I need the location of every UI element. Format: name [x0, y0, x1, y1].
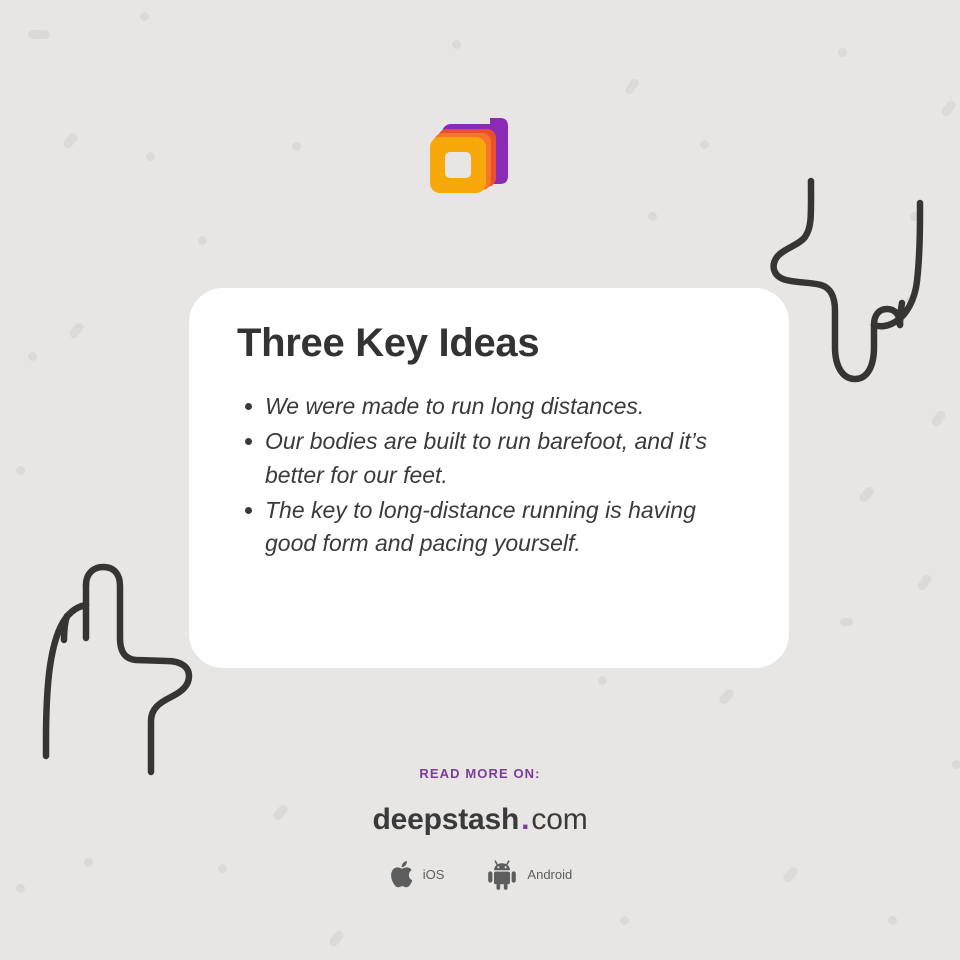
ios-store-link[interactable]: iOS — [388, 859, 445, 890]
confetti-dash — [718, 687, 736, 706]
confetti-dash — [888, 916, 897, 925]
confetti-dash — [62, 131, 80, 150]
confetti-dash — [452, 40, 461, 49]
confetti-dash — [28, 352, 37, 361]
confetti-dash — [68, 321, 86, 340]
idea-list: We were made to run long distances. Our … — [237, 390, 741, 561]
confetti-dash — [140, 12, 149, 21]
confetti-dash — [648, 212, 657, 221]
confetti-dash — [328, 929, 346, 948]
confetti-dash — [858, 485, 876, 504]
confetti-dash — [146, 152, 155, 161]
idea-card: Three Key Ideas We were made to run long… — [189, 288, 789, 668]
brand-dot: . — [519, 803, 531, 836]
list-item: We were made to run long distances. — [237, 390, 741, 423]
ios-label: iOS — [423, 867, 445, 882]
android-store-link[interactable]: Android — [486, 859, 572, 890]
confetti-dash — [916, 573, 933, 592]
confetti-dash — [700, 140, 709, 149]
confetti-dash — [620, 916, 629, 925]
brand-wordmark[interactable]: deepstash.com — [0, 805, 960, 835]
confetti-dash — [198, 236, 207, 245]
page-title: Three Key Ideas — [237, 320, 741, 366]
confetti-dash — [940, 99, 957, 118]
confetti-dash — [292, 142, 301, 151]
confetti-dash — [624, 77, 640, 96]
pointing-up-hand-illustration — [25, 560, 210, 785]
android-label: Android — [527, 867, 572, 882]
android-icon — [486, 859, 518, 890]
list-item: The key to long-distance running is havi… — [237, 494, 741, 561]
confetti-dash — [16, 466, 25, 475]
apple-icon — [388, 859, 414, 890]
brand-name: deepstash — [372, 803, 519, 836]
confetti-dash — [840, 618, 853, 626]
confetti-dash — [28, 30, 50, 39]
brand-tld: com — [531, 803, 587, 836]
confetti-dash — [598, 676, 607, 685]
footer: READ MORE ON: deepstash.com iOS — [0, 766, 960, 890]
app-store-links: iOS — [0, 859, 960, 890]
share-card-canvas: Three Key Ideas We were made to run long… — [0, 0, 960, 960]
confetti-dash — [930, 409, 947, 428]
deepstash-logo — [428, 105, 518, 197]
read-more-label: READ MORE ON: — [0, 766, 960, 781]
list-item: Our bodies are built to run barefoot, an… — [237, 425, 741, 492]
confetti-dash — [838, 48, 847, 57]
